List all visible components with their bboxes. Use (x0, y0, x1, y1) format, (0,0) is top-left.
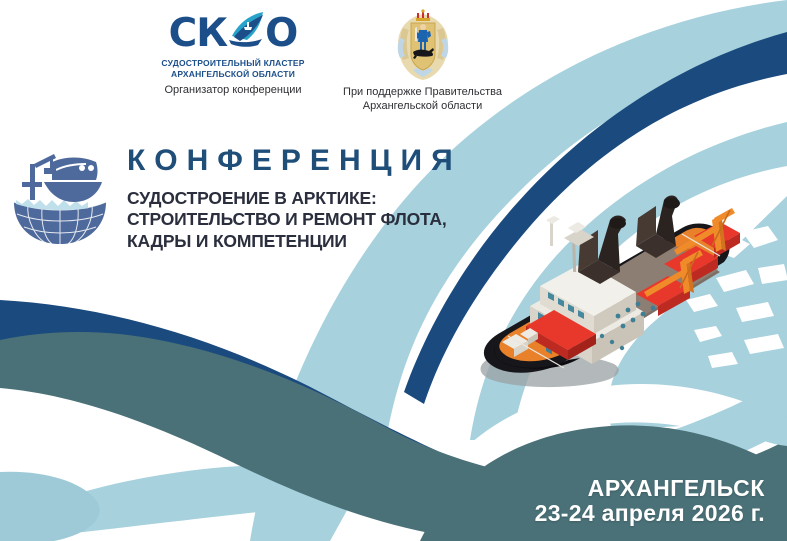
page-title-line2: СТРОИТЕЛЬСТВО И РЕМОНТ ФЛОТА, (127, 209, 487, 230)
isometric-icebreaker-ship-icon (468, 176, 787, 402)
conference-poster: СК О СУДОСТРОИТЕЛЬНЫЙ КЛАСТЕР АРХАНГЕЛЬС… (0, 0, 787, 541)
title-area: КОНФЕРЕНЦИЯ СУДОСТРОЕНИЕ В АРКТИКЕ: СТРО… (127, 146, 487, 252)
skao-logo-letters-right: О (265, 14, 297, 53)
skao-logo-letters-left: СК (169, 14, 228, 53)
shipyard-crane-globe-icon (8, 142, 112, 248)
government-support-block: При поддержке Правительства Архангельско… (330, 8, 515, 114)
organizer-block: СК О СУДОСТРОИТЕЛЬНЫЙ КЛАСТЕР АРХАНГЕЛЬС… (133, 10, 333, 96)
arkhangelsk-oblast-coat-of-arms-icon (391, 8, 455, 82)
page-title-kicker: КОНФЕРЕНЦИЯ (127, 146, 487, 176)
skao-logo: СК О (133, 10, 333, 56)
event-date: 23-24 апреля 2026 г. (535, 501, 765, 527)
crown (416, 9, 430, 21)
globe-hemisphere (14, 199, 106, 244)
event-location-date: АРХАНГЕЛЬСК 23-24 апреля 2026 г. (535, 476, 765, 528)
event-city: АРХАНГЕЛЬСК (535, 476, 765, 502)
government-support-line1: При поддержке Правительства (330, 85, 515, 99)
page-title-line3: КАДРЫ И КОМПЕТЕНЦИИ (127, 231, 487, 252)
organizer-role: Организатор конференции (133, 84, 333, 96)
page-title-line1: СУДОСТРОЕНИЕ В АРКТИКЕ: (127, 188, 487, 209)
page-title: СУДОСТРОЕНИЕ В АРКТИКЕ: СТРОИТЕЛЬСТВО И … (127, 188, 487, 252)
sail-ship-icon (225, 10, 267, 50)
crane (22, 154, 56, 200)
government-support-line2: Архангельской области (330, 99, 515, 113)
cluster-name-line2: АРХАНГЕЛЬСКОЙ ОБЛАСТИ (133, 69, 333, 80)
cluster-name-line1: СУДОСТРОИТЕЛЬНЫЙ КЛАСТЕР (133, 58, 333, 69)
